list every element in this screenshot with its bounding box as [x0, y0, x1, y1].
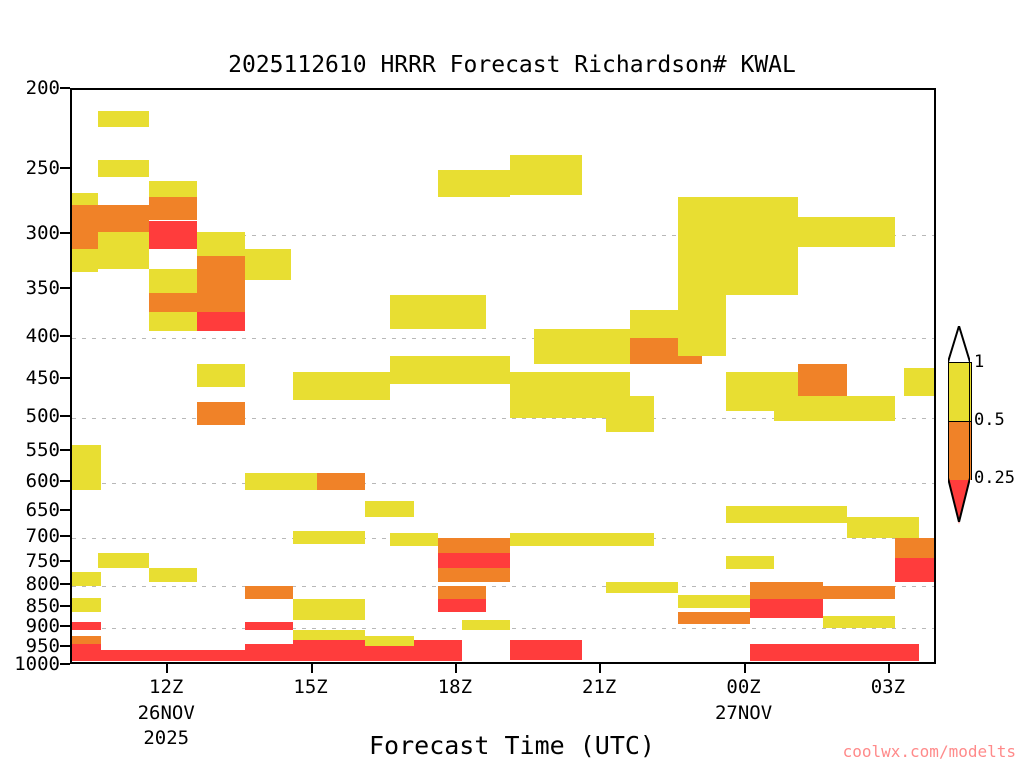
- chart-title: 2025112610 HRRR Forecast Richardson# KWA…: [0, 52, 1024, 78]
- y-tick-mark-700: [60, 535, 70, 537]
- colorbar-bottom-arrow: [948, 480, 970, 524]
- x-tick-mark-15Z: [311, 664, 313, 673]
- y-tick-label-450: 450: [26, 367, 60, 389]
- x-tick-label-21Z: 21Z: [582, 676, 616, 698]
- terrain-edge: [510, 660, 751, 662]
- chart-root: 2025112610 HRRR Forecast Richardson# KWA…: [0, 0, 1024, 768]
- terrain-edge: [750, 661, 936, 663]
- colorbar-label-0.5: 0.5: [974, 410, 1005, 430]
- terrain-segment: [750, 663, 936, 664]
- x-tick-mark-21Z: [599, 664, 601, 673]
- watermark: coolwx.com/modelts: [843, 742, 1016, 761]
- y-tick-label-650: 650: [26, 499, 60, 521]
- x-tick-label-00Z: 00Z: [726, 676, 760, 698]
- colorbar-top-arrow: [948, 326, 970, 362]
- x-tick-label-15Z: 15Z: [293, 676, 327, 698]
- terrain-segment: [510, 662, 751, 664]
- terrain-band: [72, 90, 934, 662]
- y-tick-label-550: 550: [26, 439, 60, 461]
- y-tick-label-250: 250: [26, 157, 60, 179]
- y-tick-label-850: 850: [26, 595, 60, 617]
- y-tick-mark-650: [60, 509, 70, 511]
- y-tick-mark-400: [60, 335, 70, 337]
- y-tick-mark-800: [60, 583, 70, 585]
- y-tick-mark-750: [60, 560, 70, 562]
- y-tick-label-300: 300: [26, 222, 60, 244]
- y-tick-label-700: 700: [26, 525, 60, 547]
- x-tick-label-12Z: 12Z: [149, 676, 183, 698]
- x-tick-mark-18Z: [455, 664, 457, 673]
- x-tick-mark-03Z: [888, 664, 890, 673]
- colorbar-legend: [948, 326, 970, 524]
- colorbar-segment-yellow: [948, 362, 972, 421]
- y-tick-mark-950: [60, 645, 70, 647]
- x-tick-mark-00Z: [744, 664, 746, 673]
- y-tick-label-800: 800: [26, 573, 60, 595]
- y-tick-mark-550: [60, 449, 70, 451]
- y-tick-mark-250: [60, 167, 70, 169]
- x-tick-mark-12Z: [166, 664, 168, 673]
- y-tick-label-500: 500: [26, 405, 60, 427]
- y-tick-mark-900: [60, 625, 70, 627]
- y-tick-mark-1000: [60, 663, 70, 665]
- terrain-edge: [72, 661, 510, 663]
- y-tick-mark-600: [60, 480, 70, 482]
- y-tick-mark-300: [60, 232, 70, 234]
- y-tick-mark-500: [60, 415, 70, 417]
- y-tick-label-750: 750: [26, 550, 60, 572]
- plot-area: [70, 88, 936, 664]
- y-tick-label-350: 350: [26, 277, 60, 299]
- terrain-segment: [72, 663, 510, 664]
- colorbar-label-0.25: 0.25: [974, 468, 1015, 488]
- x-tick-label-03Z: 03Z: [871, 676, 905, 698]
- y-tick-label-400: 400: [26, 325, 60, 347]
- y-tick-label-600: 600: [26, 470, 60, 492]
- y-tick-mark-450: [60, 377, 70, 379]
- y-tick-mark-850: [60, 605, 70, 607]
- x-date-label: 27NOV: [715, 702, 772, 724]
- y-tick-label-1000: 1000: [14, 653, 60, 675]
- colorbar-segment-orange: [948, 421, 972, 480]
- y-axis-labels: 2002503003504004505005506006507007508008…: [0, 0, 60, 768]
- y-tick-mark-350: [60, 287, 70, 289]
- colorbar-label-1: 1: [974, 352, 984, 372]
- x-tick-label-18Z: 18Z: [438, 676, 472, 698]
- x-date-label: 26NOV: [138, 702, 195, 724]
- y-tick-mark-200: [60, 87, 70, 89]
- y-tick-label-200: 200: [26, 77, 60, 99]
